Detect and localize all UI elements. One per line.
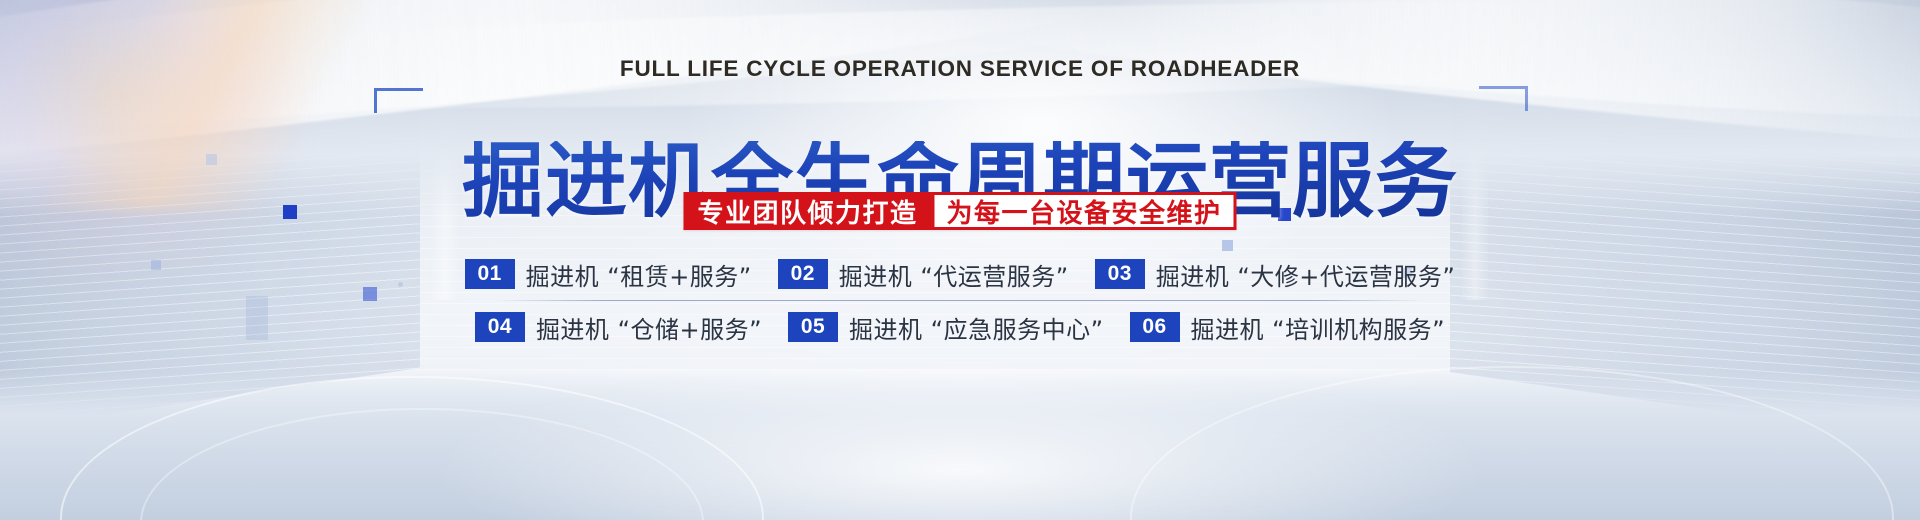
- service-row-2: 04 掘进机 “仓储+服务” 05 掘进机 “应急服务中心” 06 掘进机 “培…: [455, 301, 1465, 353]
- tagline-strip: 专业团队倾力打造 为每一台设备安全维护: [683, 192, 1236, 230]
- service-item-06[interactable]: 06 掘进机 “培训机构服务”: [1130, 310, 1446, 345]
- service-label: 掘进机 “仓储+服务”: [536, 310, 762, 345]
- service-label: 掘进机 “大修+代运营服务”: [1156, 257, 1456, 292]
- service-number-badge: 05: [788, 312, 838, 342]
- english-subtitle: FULL LIFE CYCLE OPERATION SERVICE OF ROA…: [0, 56, 1920, 82]
- service-row-1: 01 掘进机 “租赁+服务” 02 掘进机 “代运营服务” 03 掘进机 “大修…: [455, 248, 1465, 300]
- service-label: 掘进机 “租赁+服务”: [526, 257, 752, 292]
- service-label: 掘进机 “应急服务中心”: [849, 310, 1104, 345]
- service-item-05[interactable]: 05 掘进机 “应急服务中心”: [788, 310, 1104, 345]
- service-number-badge: 06: [1130, 312, 1180, 342]
- tagline-right: 为每一台设备安全维护: [932, 192, 1237, 230]
- service-number-badge: 02: [778, 259, 828, 289]
- service-item-03[interactable]: 03 掘进机 “大修+代运营服务”: [1095, 257, 1456, 292]
- service-number-badge: 04: [475, 312, 525, 342]
- tagline-left: 专业团队倾力打造: [683, 192, 931, 230]
- banner-content: FULL LIFE CYCLE OPERATION SERVICE OF ROA…: [0, 0, 1920, 520]
- service-number-badge: 03: [1095, 259, 1145, 289]
- service-list: 01 掘进机 “租赁+服务” 02 掘进机 “代运营服务” 03 掘进机 “大修…: [455, 248, 1465, 353]
- service-item-01[interactable]: 01 掘进机 “租赁+服务”: [465, 257, 752, 292]
- service-label: 掘进机 “培训机构服务”: [1191, 310, 1446, 345]
- service-item-02[interactable]: 02 掘进机 “代运营服务”: [778, 257, 1069, 292]
- service-item-04[interactable]: 04 掘进机 “仓储+服务”: [475, 310, 762, 345]
- hero-banner: FULL LIFE CYCLE OPERATION SERVICE OF ROA…: [0, 0, 1920, 520]
- service-label: 掘进机 “代运营服务”: [839, 257, 1069, 292]
- service-number-badge: 01: [465, 259, 515, 289]
